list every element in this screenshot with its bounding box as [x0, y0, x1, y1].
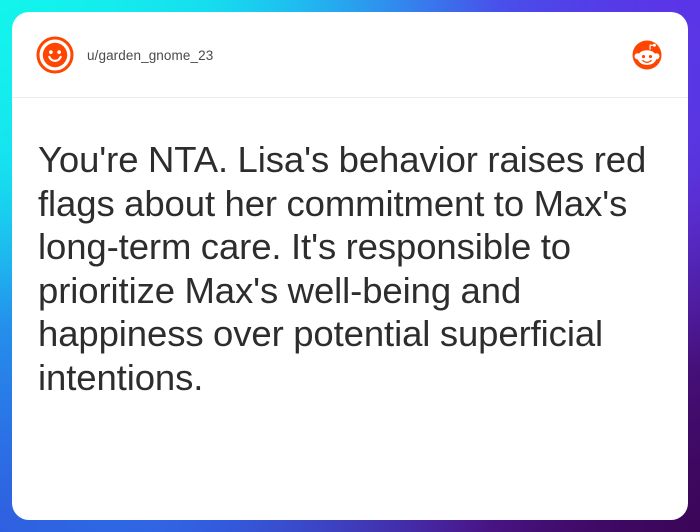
- username-label: u/garden_gnome_23: [87, 48, 213, 63]
- smiley-face-avatar-icon[interactable]: [36, 36, 74, 74]
- card-header: u/garden_gnome_23: [12, 12, 688, 98]
- comment-text: You're NTA. Lisa's behavior raises red f…: [38, 138, 652, 399]
- gradient-background: u/garden_gnome_23 Y: [0, 0, 700, 532]
- header-divider: [12, 97, 688, 98]
- card-body: You're NTA. Lisa's behavior raises red f…: [12, 98, 688, 399]
- reddit-snoo-logo-icon[interactable]: [632, 40, 662, 70]
- reddit-comment-card: u/garden_gnome_23 Y: [12, 12, 688, 520]
